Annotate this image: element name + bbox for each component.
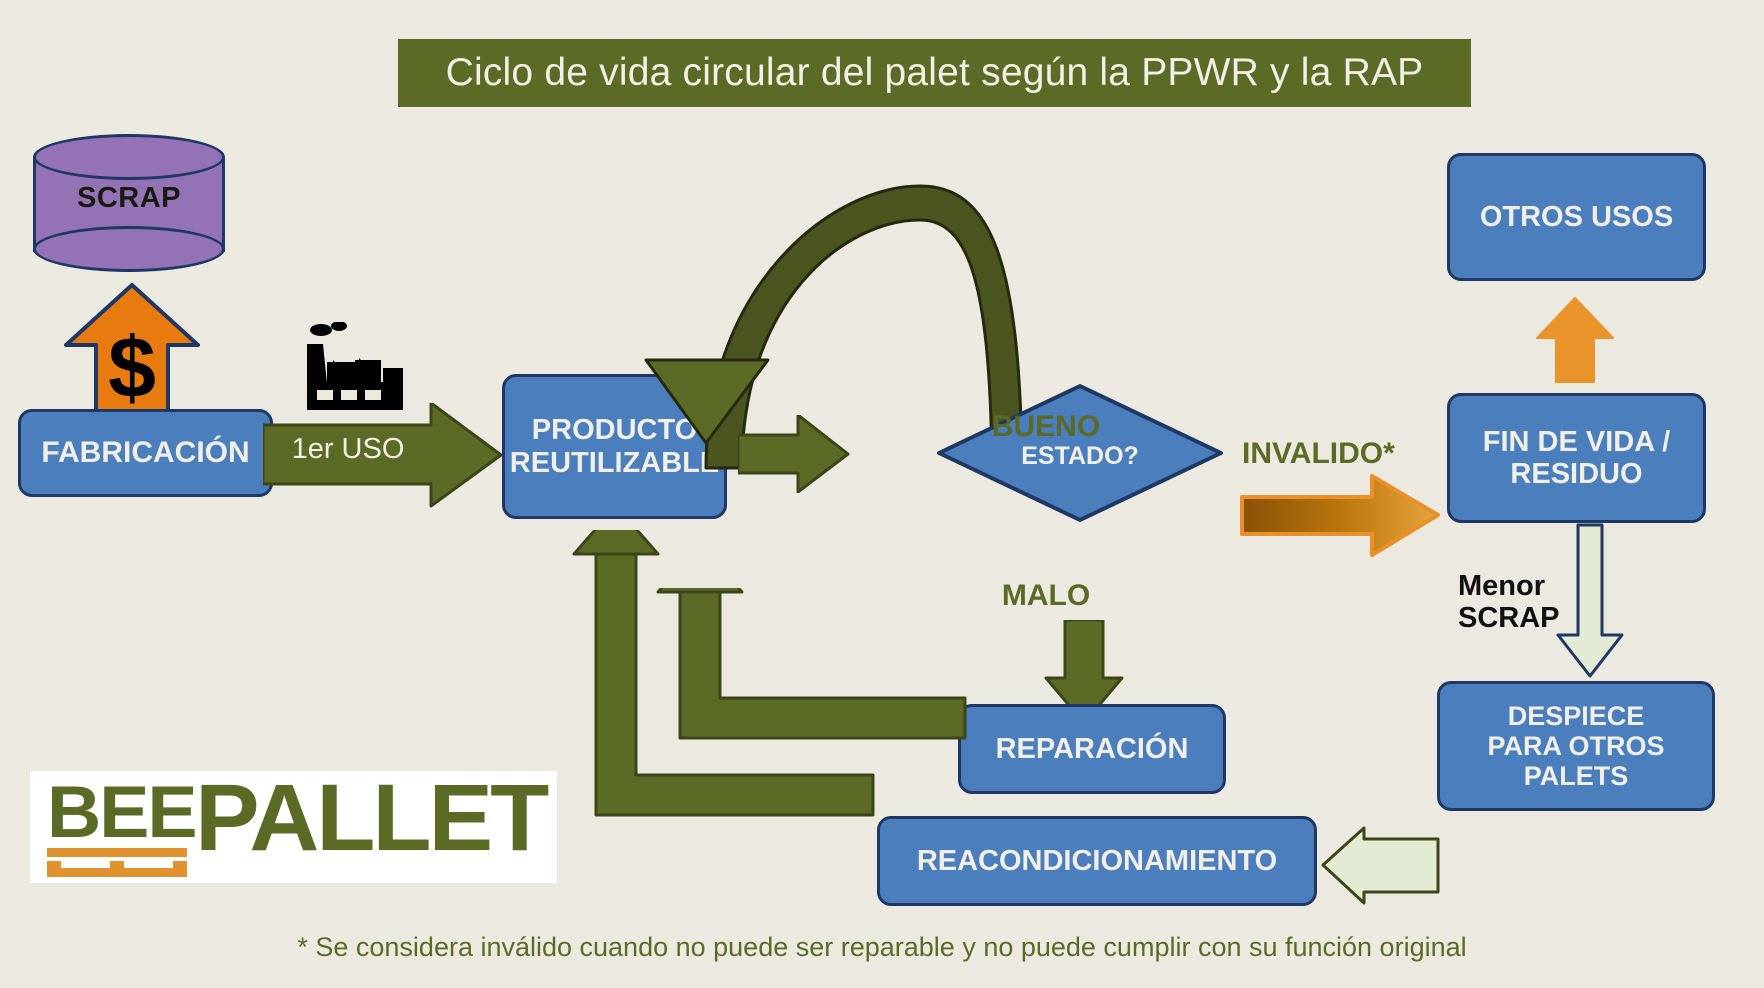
cylinder-top (33, 134, 225, 180)
node-reparacion[interactable]: REPARACIÓN (958, 704, 1226, 794)
logo-pallet-text: PALLET (195, 775, 546, 862)
node-despiece-line1: DESPIECE (1508, 701, 1645, 731)
node-despiece-line3: PALETS (1524, 761, 1629, 791)
cylinder-bottom (33, 226, 225, 272)
node-scrap: SCRAP (33, 134, 225, 274)
arrow-estado-to-fin-de-vida (1240, 473, 1440, 558)
edge-label-1er-uso: 1er USO (263, 433, 433, 466)
arrow-despiece-to-reacondicionamiento (1320, 826, 1440, 906)
brand-logo: BEE PALLET (30, 771, 557, 883)
node-estado[interactable]: ESTADO? (935, 382, 1225, 524)
edge-label-malo: MALO (1002, 579, 1090, 613)
edge-label-menor-scrap-line2: SCRAP (1458, 602, 1560, 634)
edge-label-menor-scrap-line1: Menor (1458, 570, 1560, 602)
node-estado-label: ESTADO? (1021, 442, 1139, 470)
logo-bee-block: BEE (47, 779, 191, 882)
page-title: Ciclo de vida circular del palet según l… (446, 51, 1424, 95)
arrow-fin-de-vida-to-despiece (1553, 523, 1629, 679)
dollar-icon: $ (108, 320, 156, 416)
node-fin-de-vida-line1: FIN DE VIDA / (1483, 426, 1670, 458)
node-otros-usos-label: OTROS USOS (1480, 201, 1673, 233)
node-reacondicionamiento-label: REACONDICIONAMIENTO (917, 845, 1277, 877)
pallet-icon (47, 848, 187, 882)
node-reparacion-label: REPARACIÓN (996, 733, 1189, 765)
node-despiece[interactable]: DESPIECE PARA OTROS PALETS (1437, 681, 1715, 811)
edge-label-bueno: BUENO (992, 410, 1100, 444)
node-fin-de-vida[interactable]: FIN DE VIDA / RESIDUO (1447, 393, 1706, 523)
node-fabricacion[interactable]: FABRICACIÓN (18, 409, 273, 497)
arrow-producto-to-estado (738, 415, 850, 493)
node-reacondicionamiento[interactable]: REACONDICIONAMIENTO (877, 816, 1317, 906)
node-fin-de-vida-line2: RESIDUO (1510, 458, 1642, 490)
arrow-fin-de-vida-to-otros-usos (1535, 296, 1615, 384)
node-despiece-line2: PARA OTROS (1487, 731, 1664, 761)
logo-bee-text: BEE (47, 779, 195, 846)
node-otros-usos[interactable]: OTROS USOS (1447, 153, 1706, 281)
arrow-fabricacion-to-scrap: $ (62, 281, 202, 416)
edge-label-menor-scrap: Menor SCRAP (1458, 570, 1560, 635)
edge-label-invalido: INVALIDO* (1242, 437, 1395, 471)
page-title-band: Ciclo de vida circular del palet según l… (398, 39, 1471, 107)
arrow-reacondicionamiento-to-producto (555, 530, 875, 830)
node-scrap-label: SCRAP (33, 182, 225, 215)
footnote: * Se considera inválido cuando no puede … (0, 932, 1764, 963)
diagram-canvas: Ciclo de vida circular del palet según l… (0, 0, 1764, 988)
node-fabricacion-label: FABRICACIÓN (41, 436, 249, 470)
